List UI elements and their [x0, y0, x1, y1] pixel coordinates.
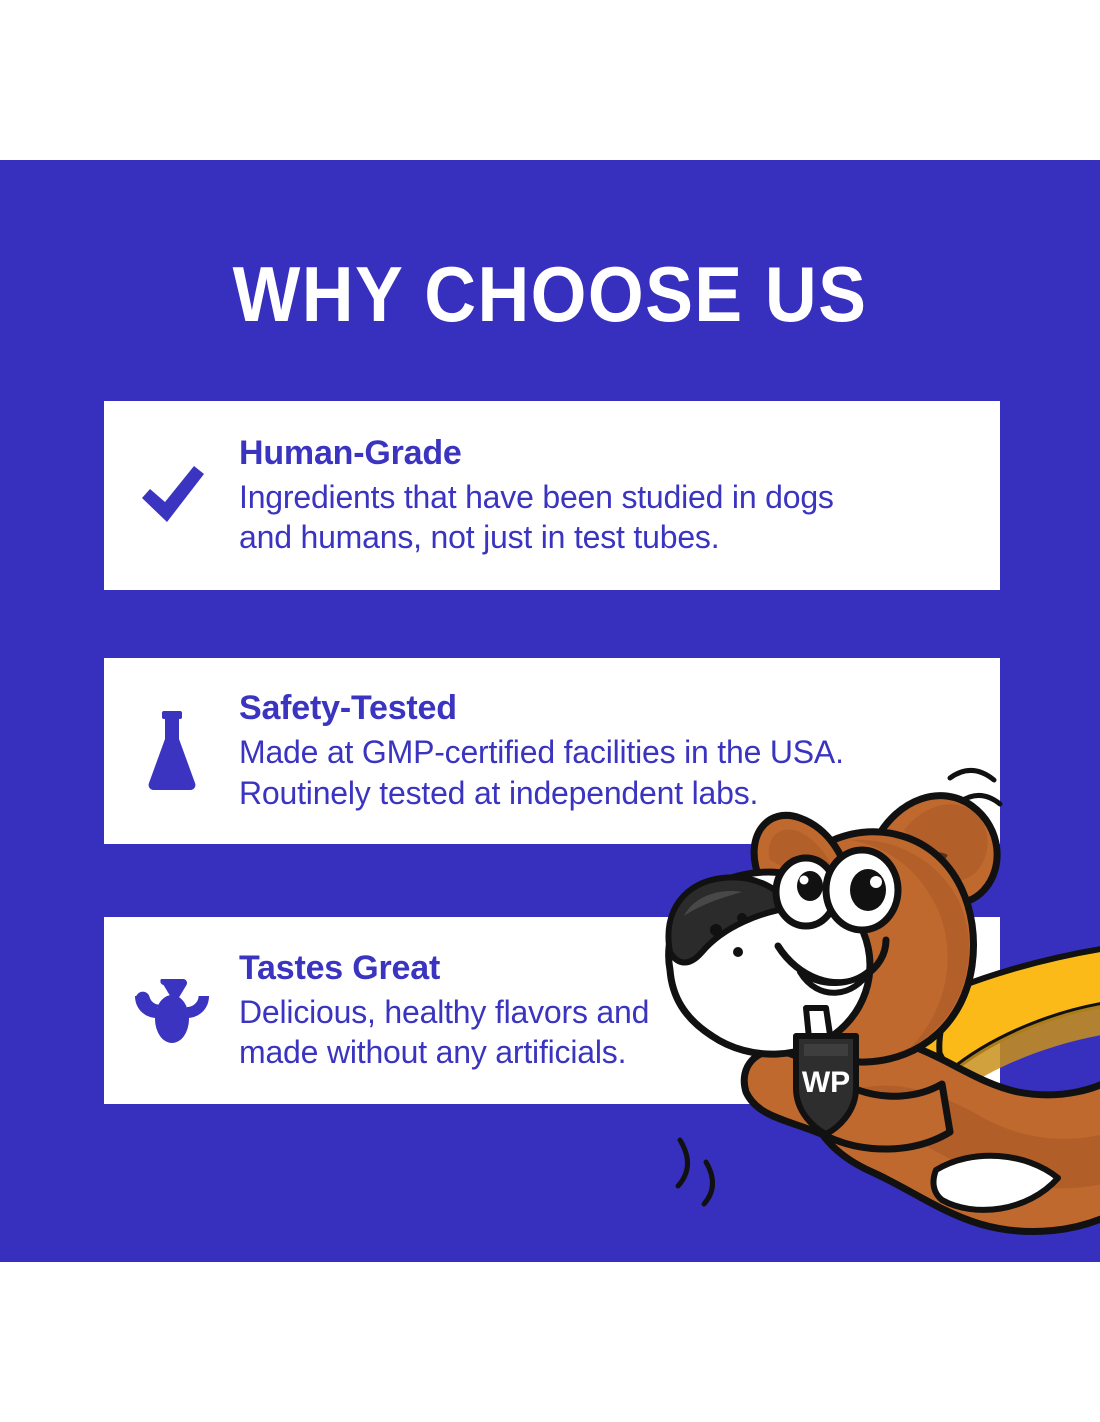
benefit-card-body: Ingredients that have been studied in do…	[239, 477, 976, 558]
benefit-card-body-line: Made at GMP-certified facilities in the …	[239, 732, 976, 772]
benefit-card-body: Delicious, healthy flavors and made with…	[239, 992, 976, 1073]
benefit-card-text: Safety-Tested Made at GMP-certified faci…	[239, 689, 1000, 813]
page-title: WHY CHOOSE US	[44, 255, 1056, 333]
benefit-card-body: Made at GMP-certified facilities in the …	[239, 732, 976, 813]
benefit-card-body-line: made without any artificials.	[239, 1032, 976, 1072]
benefit-card-body-line: Routinely tested at independent labs.	[239, 773, 976, 813]
benefit-card-safety-tested: Safety-Tested Made at GMP-certified faci…	[104, 658, 1000, 844]
flask-icon	[104, 709, 239, 793]
tongue-icon	[104, 975, 239, 1047]
marketing-panel: WHY CHOOSE US Human-Grade Ingredients th…	[0, 0, 1100, 1422]
check-icon	[104, 458, 239, 534]
benefit-card-human-grade: Human-Grade Ingredients that have been s…	[104, 401, 1000, 590]
benefit-card-title: Human-Grade	[239, 434, 976, 473]
benefit-card-title: Tastes Great	[239, 949, 976, 988]
benefit-card-title: Safety-Tested	[239, 689, 976, 728]
benefit-card-body-line: and humans, not just in test tubes.	[239, 517, 976, 557]
benefit-card-text: Tastes Great Delicious, healthy flavors …	[239, 949, 1000, 1073]
benefit-card-body-line: Ingredients that have been studied in do…	[239, 477, 976, 517]
benefit-card-text: Human-Grade Ingredients that have been s…	[239, 434, 1000, 558]
benefit-card-body-line: Delicious, healthy flavors and	[239, 992, 976, 1032]
benefit-card-tastes-great: Tastes Great Delicious, healthy flavors …	[104, 917, 1000, 1104]
